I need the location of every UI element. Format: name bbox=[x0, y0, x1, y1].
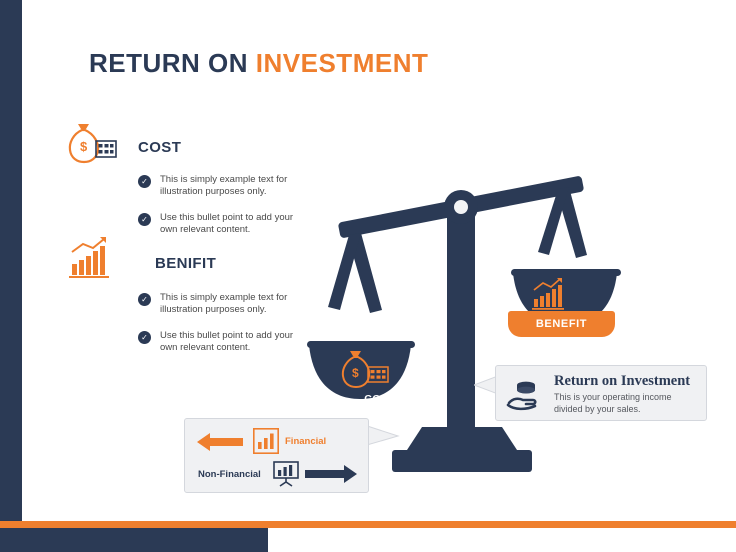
hand-coins-icon bbox=[506, 379, 548, 416]
non-financial-label: Non-Financial bbox=[198, 469, 261, 480]
page-title: RETURN ON INVESTMENT bbox=[89, 48, 428, 79]
svg-text:$: $ bbox=[352, 366, 359, 380]
growth-chart-icon bbox=[69, 236, 115, 285]
page-title-accent: INVESTMENT bbox=[256, 48, 429, 78]
check-icon: ✓ bbox=[138, 213, 151, 226]
callout-financial: Financial Non-Financial bbox=[184, 418, 369, 493]
arrow-left-icon bbox=[197, 433, 243, 451]
page-title-main: RETURN ON bbox=[89, 48, 256, 78]
arrow-right-icon bbox=[305, 465, 357, 483]
money-bag-icon: $ bbox=[67, 123, 117, 170]
callout-roi-body: This is your operating income divided by… bbox=[554, 392, 700, 415]
cost-pan-label: COST bbox=[347, 393, 413, 405]
growth-chart-icon bbox=[532, 277, 570, 316]
check-icon: ✓ bbox=[138, 331, 151, 344]
callout-roi-title: Return on Investment bbox=[554, 373, 690, 390]
money-bag-icon: $ bbox=[340, 350, 390, 395]
bar-chart-icon bbox=[253, 428, 279, 454]
slide-canvas: RETURN ON INVESTMENT $ COST ✓ This is bbox=[22, 0, 736, 552]
financial-label: Financial bbox=[285, 436, 326, 447]
callout-return-on-investment: Return on Investment This is your operat… bbox=[495, 365, 707, 421]
left-edge-bar bbox=[0, 0, 22, 552]
presentation-chart-icon bbox=[273, 461, 299, 487]
bottom-navy-block bbox=[0, 528, 268, 552]
check-icon: ✓ bbox=[138, 175, 151, 188]
svg-text:$: $ bbox=[80, 139, 88, 154]
bottom-orange-bar bbox=[0, 521, 736, 528]
benefit-heading: BENIFIT bbox=[155, 255, 216, 272]
check-icon: ✓ bbox=[138, 293, 151, 306]
cost-heading: COST bbox=[138, 139, 181, 156]
